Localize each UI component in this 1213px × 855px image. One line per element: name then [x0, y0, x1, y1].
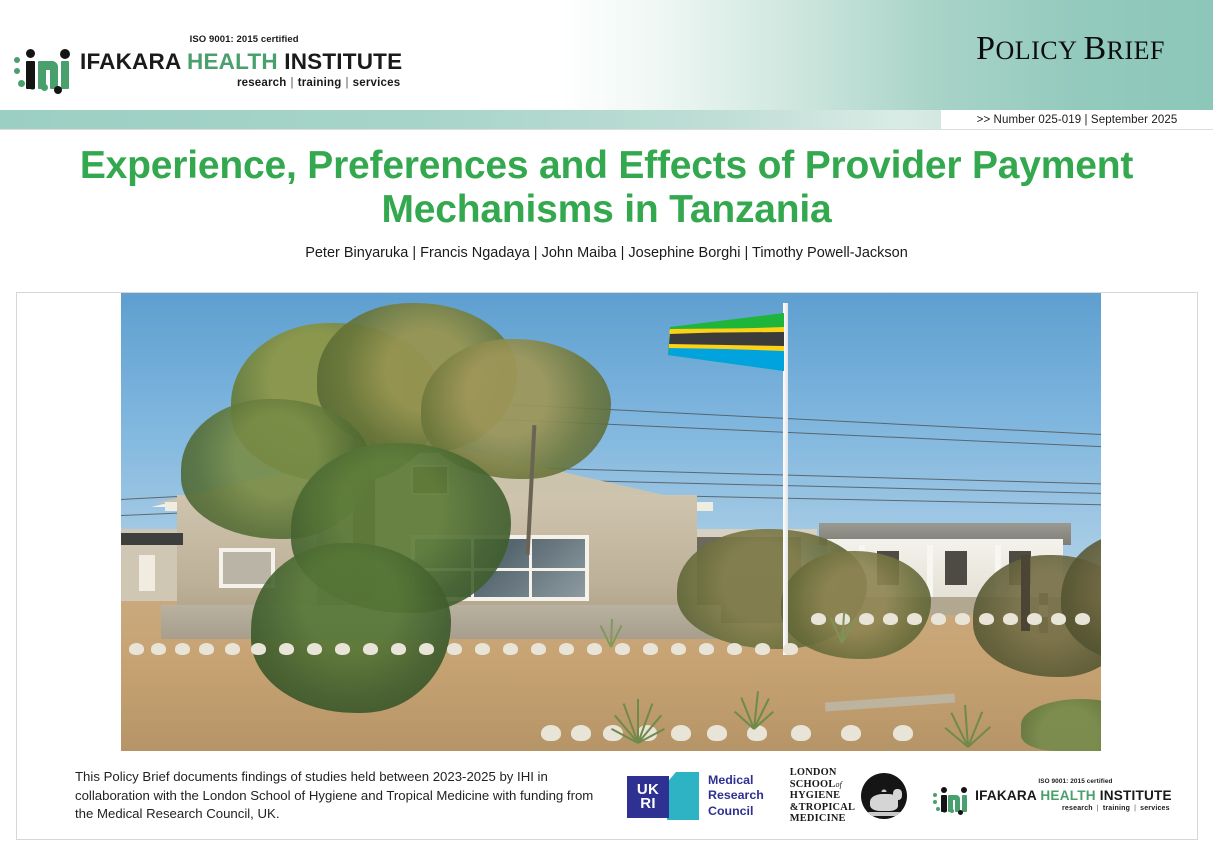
ukri-badge-icon: UK RI [627, 776, 669, 818]
ihi-footer-name-institute: INSTITUTE [1096, 788, 1172, 803]
policy-brief-p: P [976, 30, 995, 67]
lshtm-line-2-school: SCHOOL [790, 779, 836, 790]
ukri-mrc-logo: UK RI Medical Research Council [627, 772, 764, 820]
foreground-plant [731, 689, 775, 729]
institute-name-ifakara: IFAKARA [80, 49, 187, 74]
ihi-footer-tagline: research|training|services [975, 805, 1172, 812]
institute-tagline: research|training|services [80, 77, 402, 89]
caption-and-funders-row: This Policy Brief documents findings of … [17, 751, 1199, 841]
policy-brief-olicy: OLICY [995, 36, 1083, 65]
ihi-footer-tagline-services: services [1140, 805, 1170, 812]
lshtm-line-1: LONDON [790, 767, 855, 779]
ihi-footer-tagline-research: research [1062, 805, 1093, 812]
left-building-roof [121, 533, 183, 545]
ihi-footer-name-health: HEALTH [1040, 788, 1095, 803]
lshtm-line-5: MEDICINE [790, 813, 855, 825]
tree-canopy [251, 543, 451, 713]
header-divider [0, 129, 1213, 130]
secondary-building-window [945, 551, 967, 585]
ukri-letters-bottom: RI [637, 797, 659, 811]
lshtm-logo: LONDON SCHOOLof HYGIENE &TROPICAL MEDICI… [790, 767, 907, 825]
ihi-footer-tagline-training: training [1103, 805, 1130, 812]
mrc-line-3: Council [708, 804, 764, 819]
ihi-footer-name: IFAKARA HEALTH INSTITUTE [975, 789, 1172, 803]
lshtm-line-2-of: of [835, 780, 842, 789]
content-frame: This Policy Brief documents findings of … [16, 292, 1198, 840]
tagline-sep-1: | [291, 77, 294, 89]
issue-number-box: >> Number 025-019 | September 2025 [941, 110, 1213, 129]
mrc-wordmark: Medical Research Council [708, 773, 764, 818]
foreground-plant [613, 697, 663, 743]
lshtm-line-4: &TROPICAL [790, 802, 855, 814]
funder-logo-strip: UK RI Medical Research Council LONDON SC… [627, 767, 1199, 825]
ihi-footer-iso-text: ISO 9001: 2015 certified [1038, 778, 1112, 785]
cover-photo [121, 293, 1101, 751]
tagline-sep-2: | [345, 77, 348, 89]
tagline-services: services [353, 77, 401, 89]
ifakara-health-institute-logo-footer: ISO 9001: 2015 certified [933, 778, 1172, 814]
stone-border [121, 643, 821, 655]
lshtm-crest-icon [861, 773, 907, 819]
foreground-plant [941, 703, 997, 747]
caption-text: This Policy Brief documents findings of … [75, 768, 615, 824]
author-list: Peter Binyaruka | Francis Ngadaya | John… [0, 245, 1213, 261]
midground-plant [591, 617, 629, 647]
policy-brief-rief: RIEF [1107, 36, 1165, 65]
tagline-training: training [298, 77, 342, 89]
mrc-line-1: Medical [708, 773, 764, 788]
ifakara-health-institute-logo: ISO 9001: 2015 certified IFAKARA HEALTH … [14, 34, 402, 92]
policy-brief-heading: POLICY BRIEF [976, 30, 1165, 68]
institute-name: IFAKARA HEALTH INSTITUTE [80, 51, 402, 74]
foreground-shrub [1021, 699, 1101, 751]
title-block: Experience, Preferences and Effects of P… [0, 144, 1213, 261]
issue-number-text: >> Number 025-019 | September 2025 [977, 114, 1178, 126]
policy-brief-b: B [1083, 30, 1106, 67]
mrc-line-2: Research [708, 788, 764, 803]
iso-certification-text: ISO 9001: 2015 certified [190, 34, 299, 45]
tagline-research: research [237, 77, 287, 89]
institute-name-health: HEALTH [187, 49, 278, 74]
lshtm-line-3: HYGIENE [790, 790, 855, 802]
institute-name-institute: INSTITUTE [278, 49, 403, 74]
ihi-monogram-icon [14, 48, 76, 92]
left-building-window [139, 555, 155, 591]
page-title: Experience, Preferences and Effects of P… [0, 144, 1213, 232]
tanzania-flag-icon [666, 311, 786, 383]
midground-plant [821, 609, 861, 643]
ihi-footer-name-ifakara: IFAKARA [975, 788, 1040, 803]
ukri-teal-shape-icon [667, 772, 699, 820]
ihi-monogram-icon-footer [933, 787, 971, 814]
page-header: ISO 9001: 2015 certified IFAKARA HEALTH … [0, 0, 1213, 110]
